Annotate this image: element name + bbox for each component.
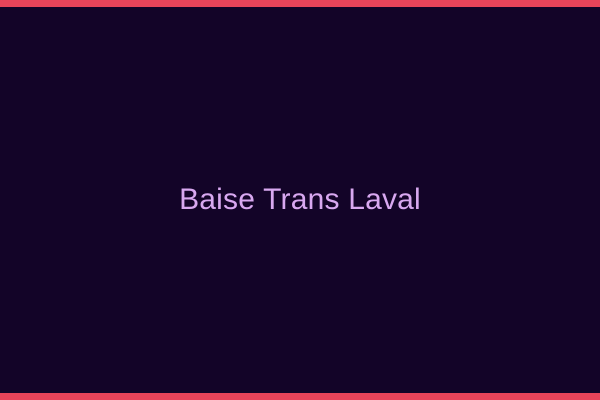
banner-caption: Baise Trans Laval <box>0 185 600 215</box>
bottom-accent-rule <box>0 393 600 400</box>
top-accent-rule <box>0 0 600 7</box>
placeholder-banner: Baise Trans Laval <box>0 0 600 400</box>
